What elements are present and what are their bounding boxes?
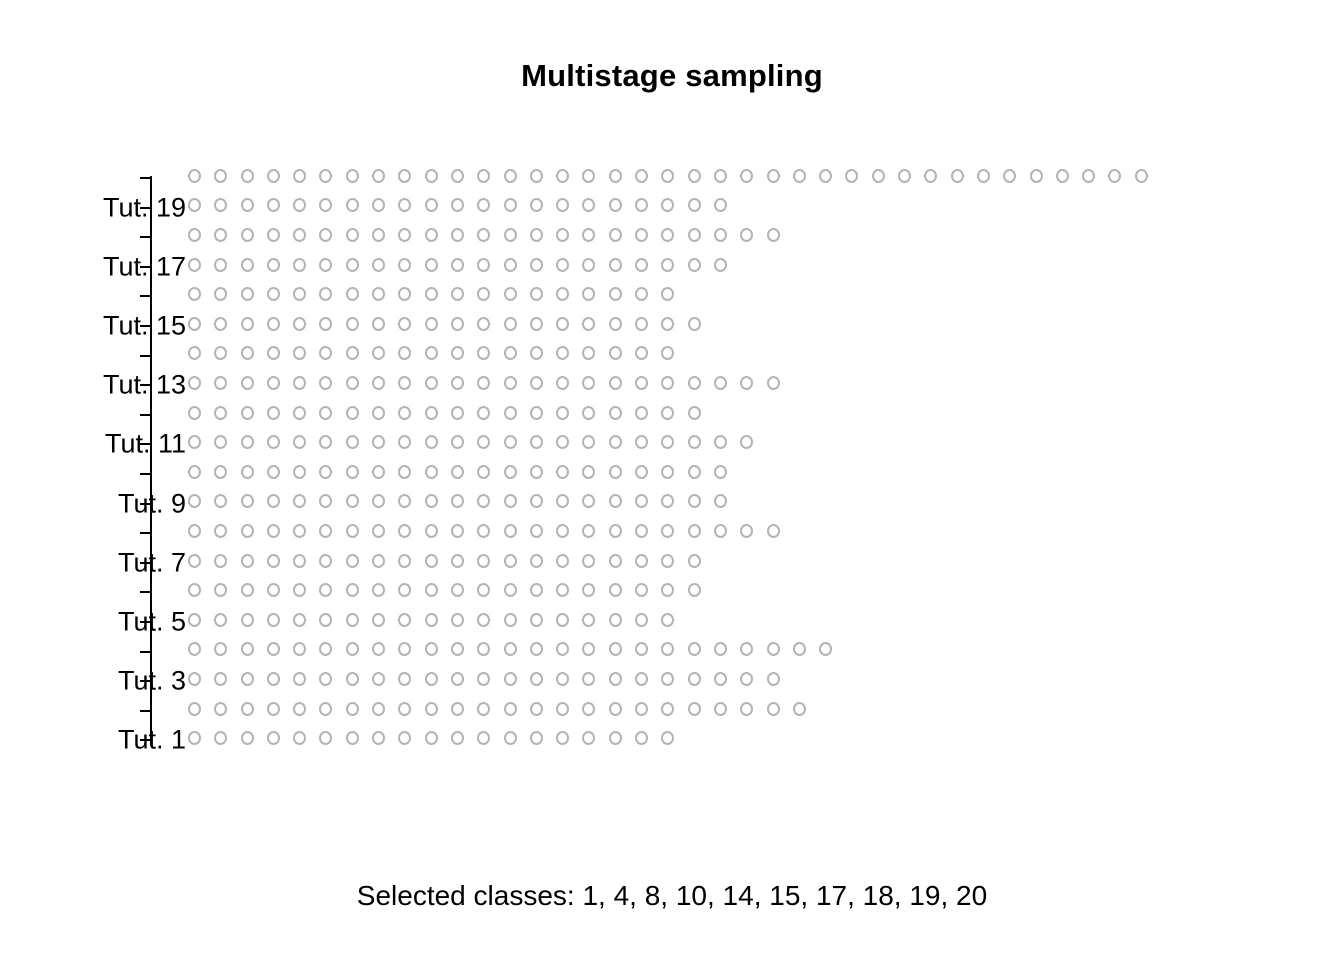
unit-circle-marker	[319, 435, 332, 449]
unit-circle-marker	[346, 287, 359, 301]
unit-circle-marker	[635, 346, 648, 360]
unit-circle-marker	[451, 376, 464, 390]
unit-circle-marker	[214, 731, 227, 745]
unit-circle-marker	[398, 228, 411, 242]
unit-circle-marker	[740, 702, 753, 716]
dot-row	[188, 433, 767, 455]
unit-circle-marker	[346, 672, 359, 686]
unit-circle-marker	[556, 554, 569, 568]
unit-circle-marker	[267, 731, 280, 745]
unit-circle-marker	[530, 228, 543, 242]
unit-circle-marker	[346, 258, 359, 272]
unit-circle-marker	[398, 346, 411, 360]
unit-circle-marker	[372, 287, 385, 301]
unit-circle-marker	[556, 169, 569, 183]
unit-circle-marker	[767, 642, 780, 656]
unit-circle-marker	[530, 642, 543, 656]
unit-circle-marker	[267, 376, 280, 390]
unit-circle-marker	[556, 376, 569, 390]
unit-circle-marker	[635, 583, 648, 597]
unit-circle-marker	[714, 642, 727, 656]
unit-circle-marker	[530, 287, 543, 301]
unit-circle-marker	[267, 406, 280, 420]
unit-circle-marker	[609, 317, 622, 331]
unit-circle-marker	[530, 258, 543, 272]
unit-circle-marker	[267, 672, 280, 686]
unit-circle-marker	[504, 406, 517, 420]
unit-circle-marker	[372, 228, 385, 242]
unit-circle-marker	[556, 228, 569, 242]
unit-circle-marker	[635, 169, 648, 183]
unit-circle-marker	[241, 406, 254, 420]
y-axis-tick	[140, 532, 151, 534]
unit-circle-marker	[398, 376, 411, 390]
unit-circle-marker	[293, 376, 306, 390]
unit-circle-marker	[451, 494, 464, 508]
unit-circle-marker	[214, 613, 227, 627]
unit-circle-marker	[372, 406, 385, 420]
unit-circle-marker	[951, 169, 964, 183]
unit-circle-marker	[688, 554, 701, 568]
dot-row	[188, 256, 740, 278]
unit-circle-marker	[319, 672, 332, 686]
unit-circle-marker	[241, 583, 254, 597]
unit-circle-marker	[582, 317, 595, 331]
unit-circle-marker	[635, 317, 648, 331]
unit-circle-marker	[635, 435, 648, 449]
unit-circle-marker	[214, 642, 227, 656]
unit-circle-marker	[740, 524, 753, 538]
unit-circle-marker	[241, 702, 254, 716]
unit-circle-marker	[293, 731, 306, 745]
unit-circle-marker	[188, 376, 201, 390]
unit-circle-marker	[346, 554, 359, 568]
unit-circle-marker	[477, 702, 490, 716]
dot-row	[188, 374, 793, 396]
unit-circle-marker	[398, 169, 411, 183]
unit-circle-marker	[635, 554, 648, 568]
unit-circle-marker	[661, 258, 674, 272]
unit-circle-marker	[582, 702, 595, 716]
unit-circle-marker	[556, 524, 569, 538]
unit-circle-marker	[898, 169, 911, 183]
unit-circle-marker	[504, 228, 517, 242]
unit-circle-marker	[530, 406, 543, 420]
y-axis-tick	[140, 355, 151, 357]
unit-circle-marker	[319, 642, 332, 656]
unit-circle-marker	[530, 554, 543, 568]
unit-circle-marker	[609, 376, 622, 390]
unit-circle-marker	[319, 702, 332, 716]
unit-circle-marker	[214, 169, 227, 183]
unit-circle-marker	[688, 583, 701, 597]
unit-circle-marker	[477, 554, 490, 568]
unit-circle-marker	[425, 228, 438, 242]
unit-circle-marker	[372, 583, 385, 597]
unit-circle-marker	[819, 169, 832, 183]
unit-circle-marker	[477, 376, 490, 390]
unit-circle-marker	[425, 524, 438, 538]
dot-row	[188, 670, 793, 692]
unit-circle-marker	[582, 287, 595, 301]
unit-circle-marker	[188, 435, 201, 449]
unit-circle-marker	[188, 702, 201, 716]
unit-circle-marker	[530, 702, 543, 716]
dot-row	[188, 522, 793, 544]
unit-circle-marker	[530, 346, 543, 360]
unit-circle-marker	[372, 554, 385, 568]
unit-circle-marker	[504, 258, 517, 272]
unit-circle-marker	[477, 494, 490, 508]
unit-circle-marker	[241, 435, 254, 449]
unit-circle-marker	[425, 376, 438, 390]
unit-circle-marker	[214, 465, 227, 479]
unit-circle-marker	[241, 198, 254, 212]
unit-circle-marker	[425, 169, 438, 183]
unit-circle-marker	[214, 258, 227, 272]
unit-circle-marker	[319, 524, 332, 538]
unit-circle-marker	[635, 376, 648, 390]
unit-circle-marker	[346, 731, 359, 745]
unit-circle-marker	[372, 613, 385, 627]
dot-row	[188, 552, 714, 574]
unit-circle-marker	[556, 642, 569, 656]
unit-circle-marker	[609, 583, 622, 597]
unit-circle-marker	[425, 494, 438, 508]
unit-circle-marker	[267, 198, 280, 212]
unit-circle-marker	[688, 228, 701, 242]
unit-circle-marker	[688, 376, 701, 390]
unit-circle-marker	[293, 465, 306, 479]
unit-circle-marker	[661, 346, 674, 360]
unit-circle-marker	[661, 465, 674, 479]
unit-circle-marker	[1108, 169, 1121, 183]
unit-circle-marker	[609, 465, 622, 479]
unit-circle-marker	[425, 346, 438, 360]
unit-circle-marker	[740, 169, 753, 183]
unit-circle-marker	[319, 317, 332, 331]
unit-circle-marker	[582, 554, 595, 568]
unit-circle-marker	[556, 494, 569, 508]
unit-circle-marker	[635, 731, 648, 745]
unit-circle-marker	[504, 494, 517, 508]
unit-circle-marker	[635, 524, 648, 538]
y-axis-tick-label: Tut. 9	[60, 488, 200, 519]
unit-circle-marker	[714, 494, 727, 508]
unit-circle-marker	[477, 642, 490, 656]
unit-circle-marker	[188, 642, 201, 656]
unit-circle-marker	[504, 583, 517, 597]
unit-circle-marker	[530, 524, 543, 538]
unit-circle-marker	[267, 583, 280, 597]
unit-circle-marker	[1030, 169, 1043, 183]
unit-circle-marker	[425, 317, 438, 331]
unit-circle-marker	[977, 169, 990, 183]
unit-circle-marker	[188, 465, 201, 479]
unit-circle-marker	[188, 494, 201, 508]
unit-circle-marker	[293, 258, 306, 272]
unit-circle-marker	[293, 287, 306, 301]
unit-circle-marker	[609, 554, 622, 568]
unit-circle-marker	[293, 672, 306, 686]
unit-circle-marker	[767, 672, 780, 686]
unit-circle-marker	[188, 583, 201, 597]
unit-circle-marker	[477, 613, 490, 627]
unit-circle-marker	[319, 228, 332, 242]
unit-circle-marker	[398, 731, 411, 745]
chart-canvas: Multistage sampling Tut. 19Tut. 17Tut. 1…	[0, 0, 1344, 960]
unit-circle-marker	[582, 376, 595, 390]
unit-circle-marker	[267, 524, 280, 538]
y-axis-tick-label: Tut. 7	[60, 547, 200, 578]
unit-circle-marker	[504, 465, 517, 479]
unit-circle-marker	[214, 583, 227, 597]
unit-circle-marker	[582, 346, 595, 360]
y-axis-tick	[140, 295, 151, 297]
unit-circle-marker	[241, 524, 254, 538]
unit-circle-marker	[425, 642, 438, 656]
unit-circle-marker	[635, 702, 648, 716]
unit-circle-marker	[346, 198, 359, 212]
unit-circle-marker	[346, 317, 359, 331]
unit-circle-marker	[477, 583, 490, 597]
unit-circle-marker	[293, 494, 306, 508]
unit-circle-marker	[214, 494, 227, 508]
unit-circle-marker	[398, 642, 411, 656]
unit-circle-marker	[504, 376, 517, 390]
unit-circle-marker	[451, 406, 464, 420]
unit-circle-marker	[793, 169, 806, 183]
unit-circle-marker	[504, 524, 517, 538]
y-axis-tick	[140, 236, 151, 238]
unit-circle-marker	[556, 435, 569, 449]
unit-circle-marker	[267, 702, 280, 716]
unit-circle-marker	[609, 228, 622, 242]
unit-circle-marker	[188, 287, 201, 301]
unit-circle-marker	[398, 258, 411, 272]
unit-circle-marker	[398, 435, 411, 449]
unit-circle-marker	[372, 731, 385, 745]
unit-circle-marker	[346, 613, 359, 627]
unit-circle-marker	[451, 258, 464, 272]
unit-circle-marker	[319, 376, 332, 390]
unit-circle-marker	[451, 169, 464, 183]
unit-circle-marker	[188, 731, 201, 745]
unit-circle-marker	[530, 465, 543, 479]
y-axis-tick	[140, 710, 151, 712]
unit-circle-marker	[267, 465, 280, 479]
unit-circle-marker	[214, 672, 227, 686]
unit-circle-marker	[241, 672, 254, 686]
unit-circle-marker	[477, 169, 490, 183]
unit-circle-marker	[688, 465, 701, 479]
unit-circle-marker	[293, 583, 306, 597]
unit-circle-marker	[477, 465, 490, 479]
unit-circle-marker	[267, 554, 280, 568]
unit-circle-marker	[767, 702, 780, 716]
unit-circle-marker	[451, 613, 464, 627]
unit-circle-marker	[609, 613, 622, 627]
dot-row	[188, 581, 714, 603]
unit-circle-marker	[688, 317, 701, 331]
unit-circle-marker	[398, 613, 411, 627]
unit-circle-marker	[241, 494, 254, 508]
unit-circle-marker	[872, 169, 885, 183]
unit-circle-marker	[293, 228, 306, 242]
chart-caption: Selected classes: 1, 4, 8, 10, 14, 15, 1…	[0, 880, 1344, 912]
unit-circle-marker	[241, 287, 254, 301]
unit-circle-marker	[372, 258, 385, 272]
unit-circle-marker	[214, 346, 227, 360]
unit-circle-marker	[609, 494, 622, 508]
unit-circle-marker	[346, 702, 359, 716]
unit-circle-marker	[188, 198, 201, 212]
unit-circle-marker	[714, 228, 727, 242]
unit-circle-marker	[530, 583, 543, 597]
unit-circle-marker	[477, 287, 490, 301]
y-axis-tick-label: Tut. 1	[60, 725, 200, 756]
unit-circle-marker	[267, 613, 280, 627]
unit-circle-marker	[319, 554, 332, 568]
unit-circle-marker	[188, 258, 201, 272]
unit-circle-marker	[530, 494, 543, 508]
unit-circle-marker	[582, 169, 595, 183]
unit-circle-marker	[504, 702, 517, 716]
unit-circle-marker	[688, 169, 701, 183]
unit-circle-marker	[635, 613, 648, 627]
unit-circle-marker	[556, 583, 569, 597]
unit-circle-marker	[214, 376, 227, 390]
unit-circle-marker	[609, 258, 622, 272]
unit-circle-marker	[609, 198, 622, 212]
unit-circle-marker	[556, 672, 569, 686]
unit-circle-marker	[214, 198, 227, 212]
unit-circle-marker	[451, 346, 464, 360]
unit-circle-marker	[767, 376, 780, 390]
unit-circle-marker	[188, 613, 201, 627]
unit-circle-marker	[661, 435, 674, 449]
dot-row	[188, 226, 793, 248]
unit-circle-marker	[188, 406, 201, 420]
unit-circle-marker	[241, 228, 254, 242]
unit-circle-marker	[319, 583, 332, 597]
unit-circle-marker	[661, 672, 674, 686]
unit-circle-marker	[477, 317, 490, 331]
unit-circle-marker	[451, 583, 464, 597]
dot-row	[188, 493, 740, 515]
unit-circle-marker	[504, 435, 517, 449]
dot-row	[188, 197, 740, 219]
unit-circle-marker	[556, 287, 569, 301]
unit-circle-marker	[451, 702, 464, 716]
unit-circle-marker	[1135, 169, 1148, 183]
unit-circle-marker	[267, 169, 280, 183]
y-axis-tick-label: Tut. 13	[60, 370, 200, 401]
unit-circle-marker	[582, 642, 595, 656]
unit-circle-marker	[346, 583, 359, 597]
unit-circle-marker	[425, 406, 438, 420]
unit-circle-marker	[372, 494, 385, 508]
unit-circle-marker	[504, 169, 517, 183]
unit-circle-marker	[661, 406, 674, 420]
unit-circle-marker	[425, 465, 438, 479]
unit-circle-marker	[372, 465, 385, 479]
unit-circle-marker	[241, 642, 254, 656]
unit-circle-marker	[582, 198, 595, 212]
unit-circle-marker	[241, 613, 254, 627]
unit-circle-marker	[504, 346, 517, 360]
unit-circle-marker	[767, 524, 780, 538]
y-axis-tick-label: Tut. 19	[60, 192, 200, 223]
unit-circle-marker	[635, 494, 648, 508]
unit-circle-marker	[714, 524, 727, 538]
unit-circle-marker	[661, 642, 674, 656]
unit-circle-marker	[793, 642, 806, 656]
y-axis-tick	[140, 651, 151, 653]
unit-circle-marker	[372, 524, 385, 538]
unit-circle-marker	[425, 672, 438, 686]
unit-circle-marker	[267, 346, 280, 360]
unit-circle-marker	[661, 583, 674, 597]
unit-circle-marker	[688, 702, 701, 716]
unit-circle-marker	[188, 317, 201, 331]
unit-circle-marker	[688, 642, 701, 656]
unit-circle-marker	[688, 406, 701, 420]
unit-circle-marker	[398, 554, 411, 568]
unit-circle-marker	[372, 198, 385, 212]
unit-circle-marker	[582, 465, 595, 479]
unit-circle-marker	[188, 554, 201, 568]
unit-circle-marker	[609, 406, 622, 420]
unit-circle-marker	[319, 494, 332, 508]
unit-circle-marker	[504, 198, 517, 212]
unit-circle-marker	[319, 287, 332, 301]
unit-circle-marker	[372, 169, 385, 183]
unit-circle-marker	[477, 524, 490, 538]
unit-circle-marker	[530, 169, 543, 183]
unit-circle-marker	[582, 672, 595, 686]
unit-circle-marker	[1082, 169, 1095, 183]
unit-circle-marker	[214, 406, 227, 420]
unit-circle-marker	[504, 613, 517, 627]
unit-circle-marker	[1056, 169, 1069, 183]
unit-circle-marker	[556, 702, 569, 716]
unit-circle-marker	[425, 435, 438, 449]
unit-circle-marker	[346, 465, 359, 479]
unit-circle-marker	[319, 731, 332, 745]
unit-circle-marker	[346, 346, 359, 360]
unit-circle-marker	[425, 287, 438, 301]
unit-circle-marker	[477, 435, 490, 449]
unit-circle-marker	[556, 317, 569, 331]
unit-circle-marker	[319, 258, 332, 272]
y-axis: Tut. 19Tut. 17Tut. 15Tut. 13Tut. 11Tut. …	[0, 0, 200, 960]
unit-circle-marker	[451, 642, 464, 656]
unit-circle-marker	[372, 376, 385, 390]
unit-circle-marker	[214, 435, 227, 449]
unit-circle-marker	[398, 494, 411, 508]
unit-circle-marker	[293, 169, 306, 183]
unit-circle-marker	[319, 406, 332, 420]
unit-circle-marker	[635, 287, 648, 301]
unit-circle-marker	[267, 494, 280, 508]
unit-circle-marker	[319, 198, 332, 212]
unit-circle-marker	[661, 287, 674, 301]
dot-row	[188, 700, 819, 722]
dot-row	[188, 641, 845, 663]
unit-circle-marker	[477, 346, 490, 360]
unit-circle-marker	[293, 406, 306, 420]
